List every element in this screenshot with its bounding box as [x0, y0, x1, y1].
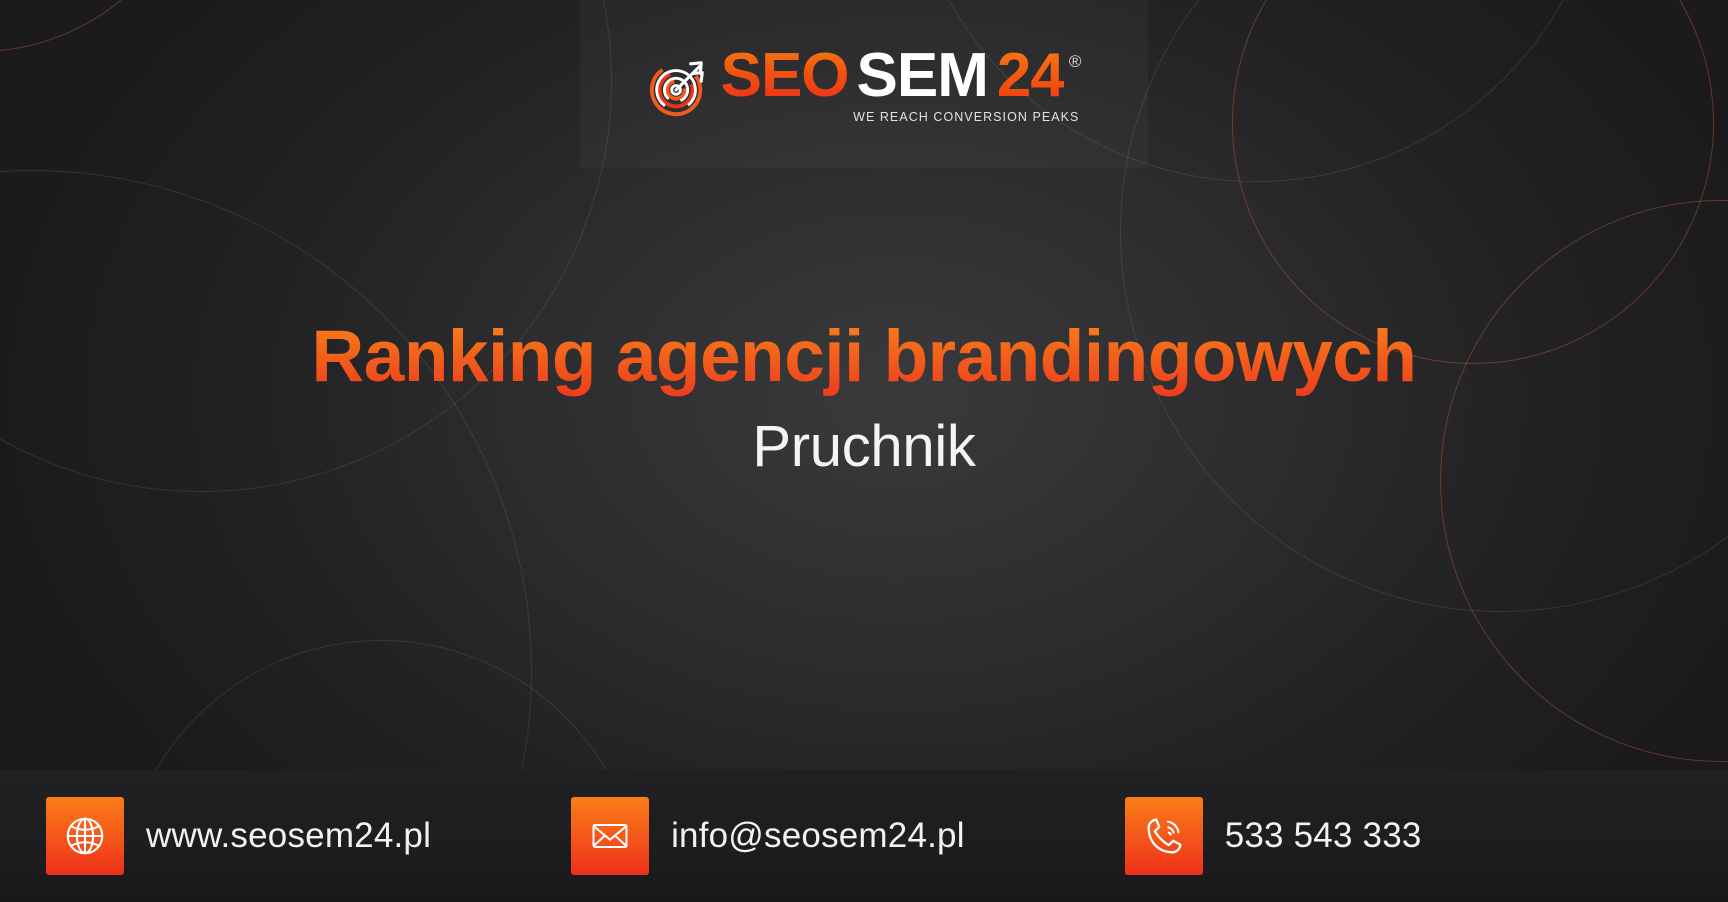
decorative-ring-warm-icon: [1232, 0, 1714, 364]
contact-email[interactable]: info@seosem24.pl: [571, 770, 965, 902]
logo-banner: SEO SEM 24 ® WE REACH CONVERSION PEAKS: [580, 0, 1148, 168]
logo-text-sem: SEM: [857, 45, 988, 107]
globe-icon: [46, 797, 124, 875]
decorative-ring-warm-icon: [0, 0, 202, 52]
decorative-ring-icon: [1120, 0, 1728, 612]
hero-text-block: Ranking agencji brandingowych Pruchnik: [0, 318, 1728, 480]
contact-website[interactable]: www.seosem24.pl: [46, 770, 431, 902]
logo-tagline: WE REACH CONVERSION PEAKS: [721, 110, 1082, 124]
slide-canvas: SEO SEM 24 ® WE REACH CONVERSION PEAKS R…: [0, 0, 1728, 902]
registered-mark-icon: ®: [1069, 53, 1082, 70]
page-title: Ranking agencji brandingowych: [0, 318, 1728, 397]
logo-text-seo: SEO: [721, 45, 849, 107]
brand-logo[interactable]: SEO SEM 24 ® WE REACH CONVERSION PEAKS: [647, 45, 1082, 124]
contact-phone-label: 533 543 333: [1225, 816, 1422, 856]
decorative-ring-warm-icon: [1440, 200, 1728, 762]
contact-email-label: info@seosem24.pl: [671, 816, 965, 856]
envelope-icon: [571, 797, 649, 875]
logo-text-24: 24: [997, 45, 1064, 107]
page-subtitle: Pruchnik: [0, 413, 1728, 480]
phone-icon: [1125, 797, 1203, 875]
contact-website-label: www.seosem24.pl: [146, 816, 431, 856]
target-dart-icon: [647, 57, 709, 119]
footer-contact-bar: www.seosem24.pl info@seosem24.pl: [0, 770, 1728, 902]
contact-phone[interactable]: 533 543 333: [1125, 770, 1422, 902]
